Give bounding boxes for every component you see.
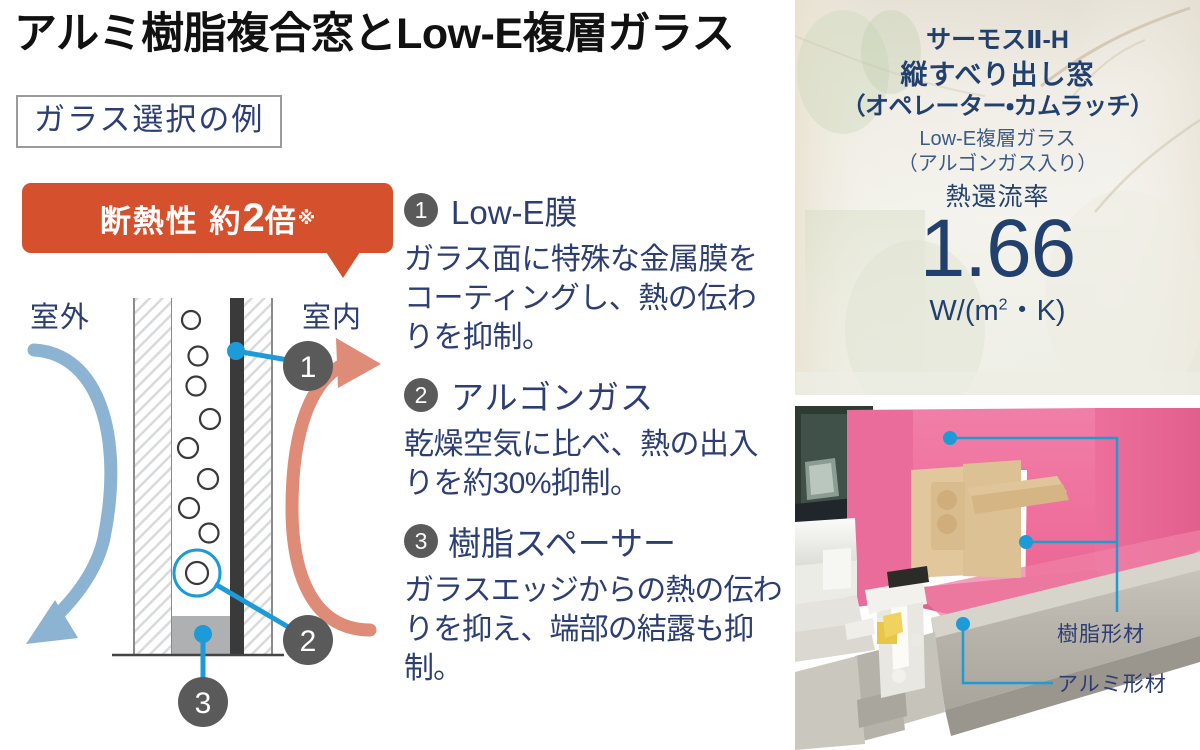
feature-list: 1 Low-E膜 ガラス面に特殊な金属膜をコーティングし、熱の伝わりを抑制。 2… xyxy=(404,186,784,688)
feature-1-heading: Low-E膜 xyxy=(451,186,578,234)
product-name: サーモスⅡ-H xyxy=(795,27,1200,55)
feature-2-badge: 2 xyxy=(404,378,438,412)
insulation-callout: 断熱性 約2倍※ xyxy=(22,183,393,253)
glass-cross-section-diagram: 室外 室内 xyxy=(0,268,395,750)
product-spec-panel: サーモスⅡ-H 縦すべり出し窓 （オペレーター・カムラッチ） Low-E複層ガラ… xyxy=(795,0,1200,395)
page-title: アルミ樹脂複合窓とLow‐E複層ガラス xyxy=(14,12,784,57)
window-type-sub: （オペレーター・カムラッチ） xyxy=(795,94,1200,120)
marker-3-number: 3 xyxy=(195,687,212,720)
callout-footnote-mark: ※ xyxy=(298,208,316,229)
label-aluminium-profile: アルミ形材 xyxy=(1057,668,1167,698)
feature-3-badge: 3 xyxy=(404,524,438,558)
left-panel: アルミ樹脂複合窓とLow‐E複層ガラス ガラス選択の例 断熱性 約2倍※ 室外 … xyxy=(0,0,795,750)
callout-number: 2 xyxy=(242,196,264,241)
window-type: 縦すべり出し窓 xyxy=(795,61,1200,91)
glass-spec-line1: Low-E複層ガラス xyxy=(795,127,1200,152)
feature-2-heading: アルゴンガス xyxy=(451,371,654,419)
cold-air-arrow xyxy=(26,350,111,644)
marker-2-number: 2 xyxy=(300,625,317,658)
frame-cutaway-panel: 樹脂形材 アルミ形材 xyxy=(795,400,1200,750)
outer-glass-pane xyxy=(134,298,172,655)
feature-item-1: 1 Low-E膜 ガラス面に特殊な金属膜をコーティングし、熱の伝わりを抑制。 xyxy=(404,186,784,357)
marker-1-number: 1 xyxy=(300,351,317,384)
callout-dot-alumi xyxy=(956,617,970,631)
feature-1-badge: 1 xyxy=(404,193,438,227)
feature-2-body: 乾燥空気に比べ、熱の出入りを約30%抑制。 xyxy=(404,425,776,503)
feature-item-2: 2 アルゴンガス 乾燥空気に比べ、熱の出入りを約30%抑制。 xyxy=(404,371,784,503)
insulation-callout-text: 断熱性 約2倍※ xyxy=(22,183,393,253)
feature-item-3: 3 樹脂スペーサー ガラスエッジからの熱の伝わりを抑え、端部の結露も抑制。 xyxy=(404,517,784,688)
label-resin-profile: 樹脂形材 xyxy=(1057,618,1145,648)
metric-unit-post: ・K) xyxy=(1008,295,1066,327)
product-spec-text: サーモスⅡ-H 縦すべり出し窓 （オペレーター・カムラッチ） Low-E複層ガラ… xyxy=(795,0,1200,329)
glass-spec-line2: （アルゴンガス入り） xyxy=(795,152,1200,177)
argon-gas-gap xyxy=(172,298,230,655)
section-label: ガラス選択の例 xyxy=(34,102,264,138)
metric-unit-pre: W/(m xyxy=(929,295,998,327)
metric-unit: W/(m2・K) xyxy=(795,287,1200,329)
section-label-box: ガラス選択の例 xyxy=(16,95,282,148)
callout-dot-resin-top xyxy=(943,431,957,445)
feature-3-body: ガラスエッジからの熱の伝わりを抑え、端部の結露も抑制。 xyxy=(404,571,782,688)
callout-prefix: 断熱性 約 xyxy=(100,196,243,241)
metric-value: 1.66 xyxy=(795,211,1200,286)
callout-dot-resin-mid xyxy=(1019,535,1033,549)
feature-1-body: ガラス面に特殊な金属膜をコーティングし、熱の伝わりを抑制。 xyxy=(404,240,776,357)
feature-3-heading: 樹脂スペーサー xyxy=(448,517,676,565)
callout-suffix: 倍 xyxy=(265,196,298,241)
metric-unit-superscript: 2 xyxy=(999,297,1008,314)
infographic-page: アルミ樹脂複合窓とLow‐E複層ガラス ガラス選択の例 断熱性 約2倍※ 室外 … xyxy=(0,0,1200,750)
